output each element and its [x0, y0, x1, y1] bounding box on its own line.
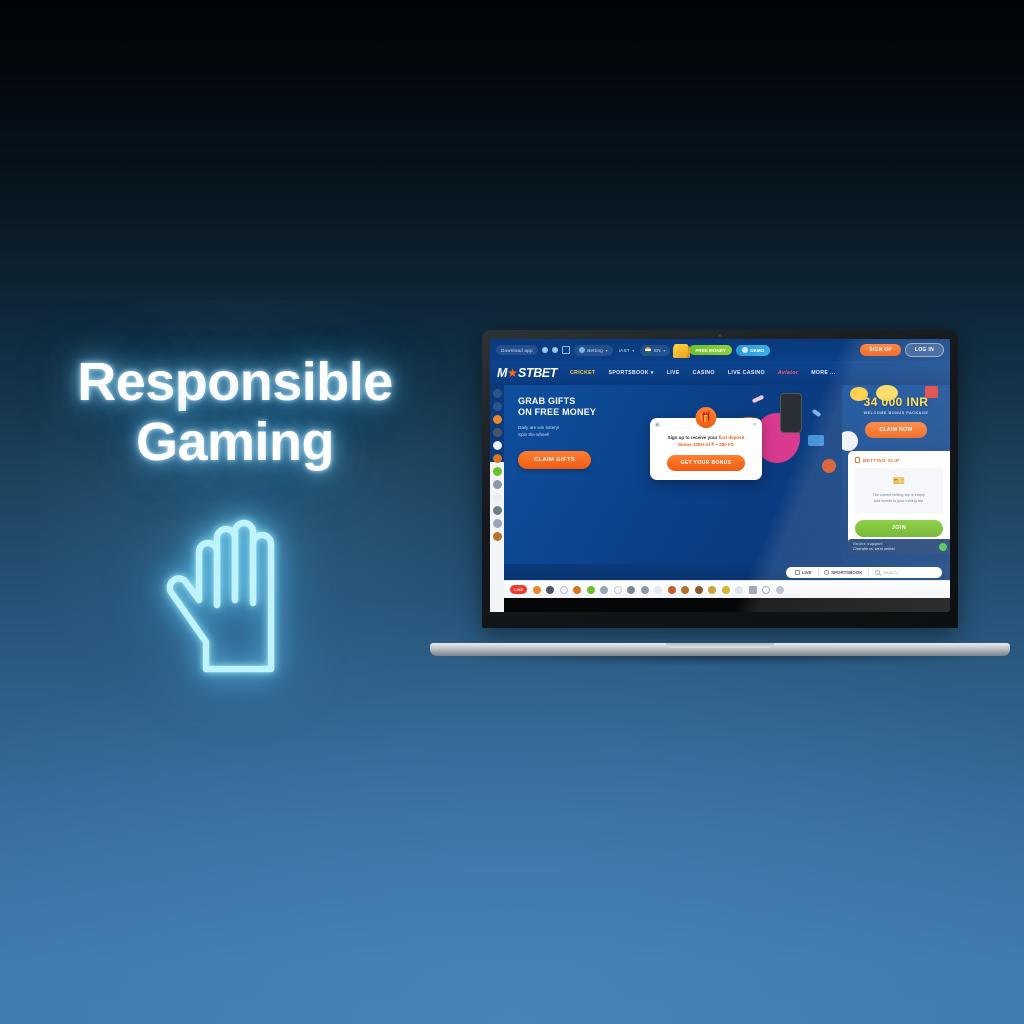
modal-text-highlight: first deposit — [719, 435, 745, 440]
topbar-download-label: Download app — [501, 348, 533, 353]
nav-item-more[interactable]: MORE ... — [811, 370, 835, 376]
page-title: Responsible Gaming — [0, 352, 470, 473]
nav-item-live-casino[interactable]: LIVE CASINO — [728, 370, 765, 376]
empty-line-1: The current betting slip is empty. — [872, 493, 925, 497]
modal-left-icon: ▣ — [655, 422, 660, 428]
art-ribbon-1 — [752, 395, 765, 404]
nav-sportsbook-label: SPORTSBOOK — [609, 370, 649, 376]
welcome-promo: 34 000 INR WELCOME BONUS PACKAGE CLAIM N… — [842, 385, 950, 438]
chat-bubble-icon[interactable] — [939, 543, 947, 551]
art-phone — [780, 393, 802, 433]
site-body: GRAB GIFTS ON FREE MONEY Daily are win l… — [490, 385, 950, 612]
sidebar-history-icon[interactable] — [493, 402, 502, 411]
gift-icon: 🎁 — [696, 407, 717, 428]
topbar-item-download[interactable]: Download app — [496, 345, 538, 355]
logo-pre: M — [497, 366, 507, 380]
left-sidebar — [490, 385, 504, 612]
tab-sportsbook-label: SPORTSBOOK — [831, 570, 862, 575]
claim-now-button[interactable]: CLAIM NOW — [865, 422, 926, 438]
sidebar-volleyball-icon[interactable] — [493, 467, 502, 476]
sport-icon-basketball[interactable] — [573, 586, 581, 594]
join-label: JOIN — [892, 525, 907, 531]
sidebar-esports-icon[interactable] — [493, 480, 502, 489]
betting-slip-empty-state: 🎫 The current betting slip is empty. Add… — [855, 468, 943, 514]
sidebar-baseball-icon[interactable] — [493, 519, 502, 528]
promo-subtitle: WELCOME BONUS PACKAGE — [850, 411, 942, 415]
sport-icon-circle[interactable] — [762, 586, 770, 594]
promo-amount: 34 000 INR — [850, 395, 942, 409]
sidebar-tennis-icon[interactable] — [493, 454, 502, 463]
flag-icon — [645, 347, 651, 353]
sidebar-basketball-icon[interactable] — [493, 441, 502, 450]
betting-slip-empty-text: The current betting slip is empty. Add e… — [860, 492, 938, 505]
topbar-odds-label: IAST — [619, 348, 630, 353]
sport-icon-cricket[interactable] — [533, 586, 541, 594]
site-topbar: Download app Betting ▾ IAST ▾ EN ▾ — [490, 339, 950, 361]
nav-links: CRICKET SPORTSBOOK ▾ LIVE CASINO LIVE CA… — [570, 370, 835, 376]
search-icon — [875, 570, 880, 575]
laptop-mockup: Download app Betting ▾ IAST ▾ EN ▾ — [430, 330, 1010, 670]
sidebar-football-icon[interactable] — [493, 428, 502, 437]
free-money-label: FREE MONEY — [695, 348, 725, 353]
sport-icon-handball[interactable] — [695, 586, 703, 594]
sport-icon-golf[interactable] — [681, 586, 689, 594]
empty-slip-icon: 🎫 — [860, 477, 938, 487]
laptop-base — [430, 643, 1010, 656]
chevron-down-icon: ▾ — [632, 348, 634, 353]
art-ribbon-2 — [812, 409, 822, 417]
sport-icon-esports[interactable] — [654, 586, 662, 594]
tab-sportsbook[interactable]: SPORTSBOOK — [818, 570, 868, 575]
sidebar-boxing-icon[interactable] — [493, 506, 502, 515]
signup-label: SIGN UP — [869, 347, 892, 353]
close-icon[interactable]: ✕ — [753, 422, 757, 428]
claim-now-label: CLAIM NOW — [879, 427, 912, 433]
info-icon[interactable] — [562, 346, 570, 354]
chevron-down-icon: ▾ — [663, 348, 665, 353]
sport-icon-flag[interactable] — [749, 586, 757, 594]
login-button[interactable]: LOG IN — [905, 343, 944, 357]
art-ball — [822, 459, 836, 473]
free-money-button[interactable]: FREE MONEY — [689, 345, 731, 355]
screen-bottom-fill — [504, 598, 950, 612]
sport-icon-rugby[interactable] — [668, 586, 676, 594]
banner-title-line-2: ON FREE MONEY — [518, 407, 596, 417]
betting-slip-panel: BETTING SLIP 🎫 The current betting slip … — [848, 451, 950, 545]
support-chat-widget[interactable]: Online support Chat with us, we're onlin… — [848, 539, 950, 555]
search-row: LIVE SPORTSBOOK Search... — [504, 564, 950, 580]
sport-icon-darts[interactable] — [708, 586, 716, 594]
hero-row: GRAB GIFTS ON FREE MONEY Daily are win l… — [504, 385, 950, 564]
sidebar-cricket-icon[interactable] — [493, 415, 502, 424]
download-icon[interactable] — [542, 347, 548, 353]
topbar-language-label: EN — [654, 348, 661, 353]
join-button[interactable]: JOIN — [855, 520, 943, 537]
sport-icon-misc[interactable] — [735, 586, 743, 594]
sidebar-favorites-icon[interactable] — [493, 389, 502, 398]
banner-sub-line-2: Spin the wheel! — [518, 432, 549, 437]
mostbet-logo[interactable]: M STBET — [497, 366, 557, 380]
betting-slip-title: BETTING SLIP — [863, 458, 899, 463]
search-placeholder: Search... — [883, 570, 901, 575]
sport-icon-baseball[interactable] — [614, 586, 622, 594]
banner-title-line-1: GRAB GIFTS — [518, 396, 576, 406]
site-mainnav: M STBET CRICKET SPORTSBOOK ▾ LIVE CASINO… — [490, 361, 950, 385]
topbar-item-odds[interactable]: IAST ▾ — [617, 346, 637, 355]
sportsbook-icon — [824, 570, 829, 575]
apple-icon[interactable] — [552, 347, 558, 353]
sidebar-rugby-icon[interactable] — [493, 532, 502, 541]
empty-line-2: Add events to your betting slip. — [874, 499, 924, 503]
claim-gifts-label: CLAIM GIFTS — [534, 457, 575, 463]
chat-message: Chat with us, we're online! — [853, 547, 945, 551]
bonus-modal: 🎁 ▣ ✕ Sign up to receive your first depo… — [650, 418, 762, 480]
sport-icon-table-tennis[interactable] — [587, 586, 595, 594]
right-column: 34 000 INR WELCOME BONUS PACKAGE CLAIM N… — [842, 385, 950, 564]
ticket-icon — [855, 457, 860, 463]
get-bonus-label: GET YOUR BONUS — [680, 460, 731, 466]
live-badge[interactable]: LIVE — [510, 585, 527, 594]
stop-hand-icon — [160, 508, 300, 673]
coins-icon — [674, 344, 688, 356]
promo-banner: GRAB GIFTS ON FREE MONEY Daily are win l… — [504, 385, 842, 564]
sport-icon-tennis[interactable] — [560, 586, 568, 594]
chevron-down-icon: ▾ — [651, 370, 654, 376]
nav-item-live[interactable]: LIVE — [667, 370, 680, 376]
signup-button[interactable]: SIGN UP — [860, 344, 901, 356]
nav-item-aviator[interactable]: Aviator — [778, 370, 798, 376]
laptop-screen: Download app Betting ▾ IAST ▾ EN ▾ — [490, 339, 950, 612]
laptop-lid: Download app Betting ▾ IAST ▾ EN ▾ — [482, 330, 958, 628]
site-content: GRAB GIFTS ON FREE MONEY Daily are win l… — [504, 385, 950, 612]
get-bonus-button[interactable]: GET YOUR BONUS — [667, 455, 744, 471]
sport-icon-boxing[interactable] — [641, 586, 649, 594]
thumbs-up-icon — [742, 347, 748, 353]
live-icon — [795, 570, 800, 575]
topbar-item-betting[interactable]: Betting ▾ — [574, 345, 613, 356]
logo-post: STBET — [518, 366, 557, 380]
topbar-item-language[interactable]: EN ▾ — [640, 345, 670, 356]
banner-sub-line-1: Daily are win lottery! — [518, 425, 559, 430]
search-input[interactable]: Search... — [869, 570, 939, 575]
login-label: LOG IN — [915, 347, 934, 353]
globe-icon — [579, 347, 585, 353]
modal-text-before: Sign up to receive your — [668, 435, 718, 440]
sidebar-hockey-icon[interactable] — [493, 493, 502, 502]
demo-button[interactable]: DEMO — [736, 345, 770, 356]
topbar-betting-label: Betting — [587, 348, 603, 353]
claim-gifts-button[interactable]: CLAIM GIFTS — [518, 451, 591, 469]
sport-icon-football[interactable] — [546, 586, 554, 594]
tab-live-label: LIVE — [802, 570, 812, 575]
webcam-icon — [719, 334, 722, 337]
nav-item-cricket[interactable]: CRICKET — [570, 370, 596, 376]
sport-icon-volleyball[interactable] — [600, 586, 608, 594]
page-title-line-2: Gaming — [0, 412, 470, 472]
sport-icon-person[interactable] — [776, 586, 784, 594]
art-card — [808, 435, 824, 446]
sport-icon-hockey[interactable] — [627, 586, 635, 594]
nav-item-sportsbook[interactable]: SPORTSBOOK ▾ — [609, 370, 654, 376]
nav-item-casino[interactable]: CASINO — [693, 370, 715, 376]
tab-live[interactable]: LIVE — [789, 570, 818, 575]
betting-slip-header: BETTING SLIP — [855, 457, 943, 463]
demo-label: DEMO — [750, 348, 764, 353]
modal-text-after: bonus 125% of ₹ + 250 FS — [678, 442, 734, 447]
star-icon — [508, 368, 518, 378]
search-pill: LIVE SPORTSBOOK Search... — [786, 567, 942, 578]
page-title-line-1: Responsible — [77, 352, 393, 412]
modal-text: Sign up to receive your first deposit bo… — [659, 434, 753, 448]
chevron-down-icon: ▾ — [605, 348, 607, 353]
sports-icon-strip: LIVE — [504, 580, 950, 598]
chat-title: Online support — [853, 542, 945, 546]
sport-icon-snooker[interactable] — [722, 586, 730, 594]
